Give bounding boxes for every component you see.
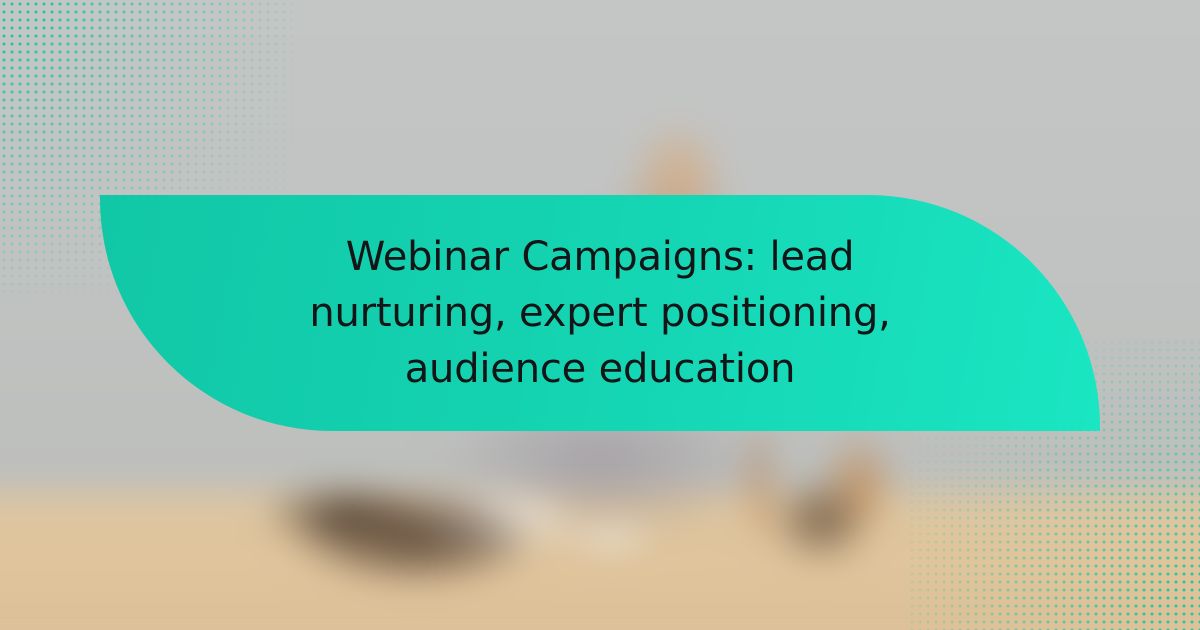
page-title: Webinar Campaigns: lead nurturing, exper…: [250, 229, 950, 397]
social-card: Webinar Campaigns: lead nurturing, exper…: [0, 0, 1200, 630]
title-banner: Webinar Campaigns: lead nurturing, exper…: [100, 195, 1100, 431]
